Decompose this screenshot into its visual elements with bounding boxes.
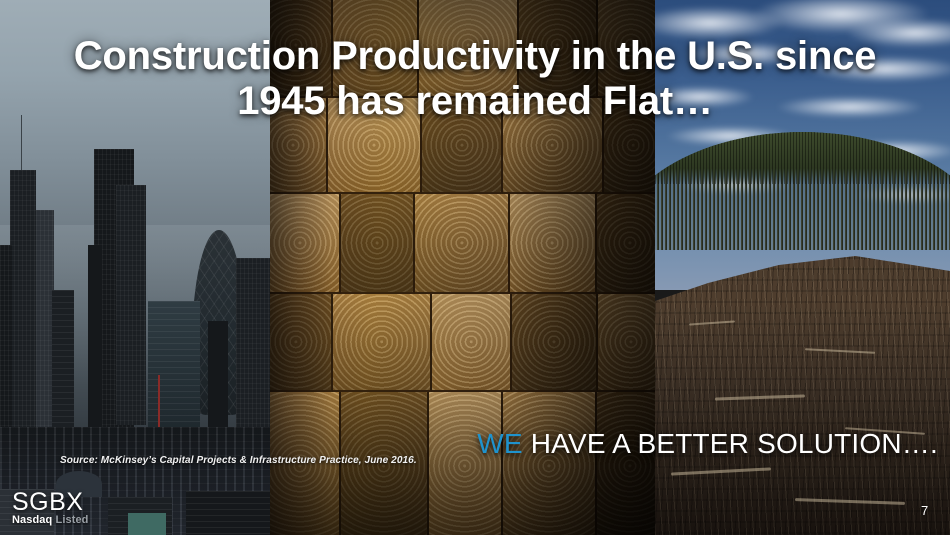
logo-wordmark: SGBX (12, 490, 89, 515)
tagline-rest: HAVE A BETTER SOLUTION…. (523, 428, 938, 459)
lumber-plank (415, 194, 509, 294)
lumber-plank (598, 294, 655, 392)
tower-block (208, 321, 228, 439)
lumber-plank (512, 294, 598, 392)
lumber-plank (432, 294, 512, 392)
tower-block (236, 258, 270, 443)
tower-42-wing (116, 185, 146, 425)
page-number: 7 (921, 503, 928, 518)
presentation-slide: Construction Productivity in the U.S. si… (0, 0, 950, 535)
logo-sub-secondary: Listed (56, 514, 89, 526)
lumber-plank (270, 294, 333, 392)
lumber-plank (510, 194, 598, 294)
lumber-plank (333, 294, 432, 392)
page-title: Construction Productivity in the U.S. si… (0, 34, 950, 124)
tower-block (88, 245, 102, 445)
lumber-row (270, 294, 655, 392)
lumber-plank (341, 194, 415, 294)
lumber-plank (597, 194, 655, 294)
low-building (186, 491, 270, 535)
antenna (21, 115, 22, 175)
tagline-highlight: WE (477, 428, 523, 459)
logo-subtitle: Nasdaq Listed (12, 514, 89, 526)
lumber-row (270, 194, 655, 294)
source-citation: Source: McKinsey’s Capital Projects & In… (60, 455, 417, 466)
teal-roof-building (128, 513, 166, 535)
sgbx-logo: SGBX Nasdaq Listed (12, 490, 89, 526)
logo-sub-primary: Nasdaq (12, 514, 56, 526)
tagline: WE HAVE A BETTER SOLUTION…. (477, 428, 938, 460)
lumber-plank (270, 194, 341, 294)
